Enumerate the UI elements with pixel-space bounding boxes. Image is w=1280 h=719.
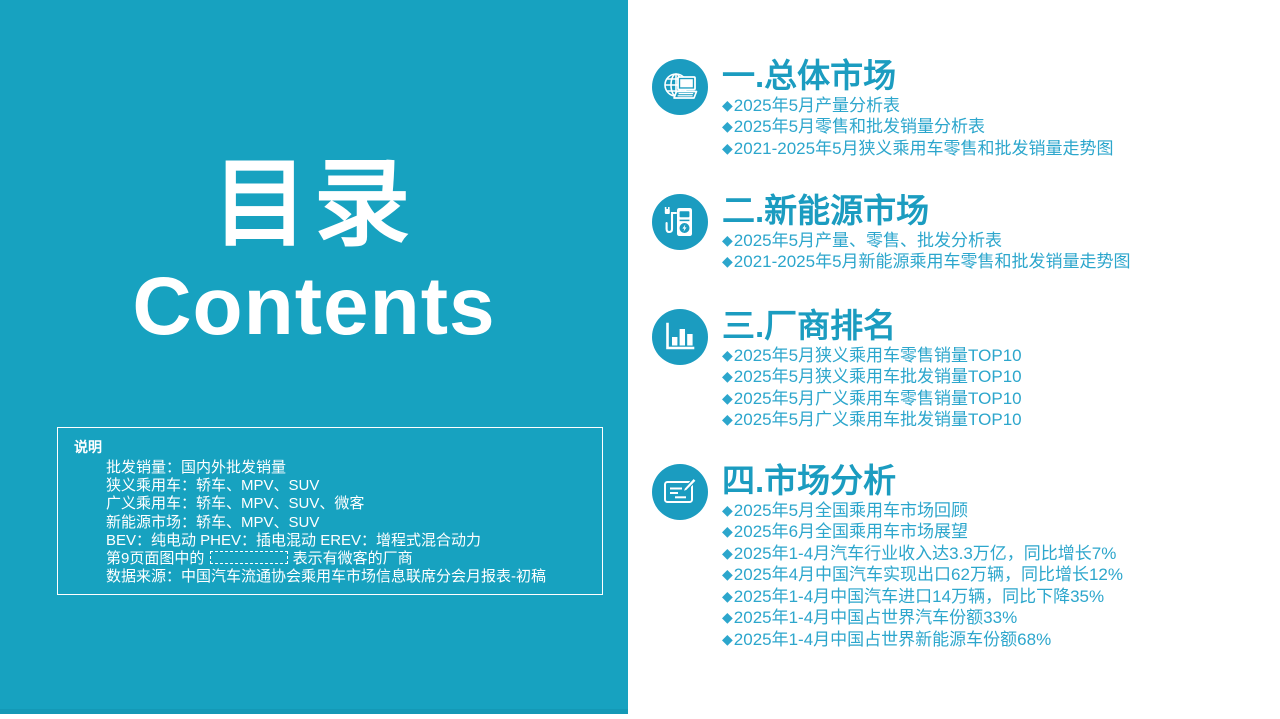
toc-item-label: 2025年5月广义乘用车批发销量TOP10 — [734, 410, 1022, 429]
toc-item-label: 2025年1-4月中国占世界新能源车份额68% — [734, 630, 1051, 649]
toc-item-label: 2025年1-4月中国汽车进口14万辆，同比下降35% — [734, 587, 1104, 606]
diamond-bullet-icon: ◆ — [722, 118, 733, 134]
diamond-bullet-icon: ◆ — [722, 253, 733, 269]
toc-item[interactable]: ◆2025年1-4月中国占世界汽车份额33% — [722, 607, 1123, 629]
section-title: 四.市场分析 — [722, 463, 1123, 499]
toc-item-label: 2025年5月全国乘用车市场回顾 — [734, 501, 968, 520]
page-title-english: Contents — [0, 262, 628, 352]
note-line-with-dashbox: 第9页面图中的 表示有微客的厂商 — [106, 550, 592, 568]
toc-section-new-energy-market[interactable]: 二.新能源市场 ◆2025年5月产量、零售、批发分析表 ◆2021-2025年5… — [652, 193, 1131, 273]
diamond-bullet-icon: ◆ — [722, 232, 733, 248]
dashbox-prefix-text: 第9页面图中的 — [106, 550, 209, 567]
toc-item[interactable]: ◆2025年4月中国汽车实现出口62万辆，同比增长12% — [722, 564, 1123, 586]
toc-item-label: 2025年4月中国汽车实现出口62万辆，同比增长12% — [734, 565, 1123, 584]
diamond-bullet-icon: ◆ — [722, 566, 733, 582]
section-item-list: ◆2025年5月全国乘用车市场回顾 ◆2025年6月全国乘用车市场展望 ◆202… — [722, 500, 1123, 651]
toc-item[interactable]: ◆2021-2025年5月狭义乘用车零售和批发销量走势图 — [722, 138, 1114, 160]
section-title: 一.总体市场 — [722, 58, 1114, 94]
toc-item-label: 2021-2025年5月新能源乘用车零售和批发销量走势图 — [734, 252, 1131, 271]
toc-item-label: 2025年5月产量、零售、批发分析表 — [734, 231, 1002, 250]
page-title-chinese: 目录 — [0, 155, 628, 256]
toc-item[interactable]: ◆2025年5月产量、零售、批发分析表 — [722, 230, 1131, 252]
toc-section-manufacturer-ranking[interactable]: 三.厂商排名 ◆2025年5月狭义乘用车零售销量TOP10 ◆2025年5月狭义… — [652, 308, 1022, 431]
section-item-list: ◆2025年5月狭义乘用车零售销量TOP10 ◆2025年5月狭义乘用车批发销量… — [722, 345, 1022, 431]
toc-item[interactable]: ◆2025年1-4月中国占世界新能源车份额68% — [722, 629, 1123, 651]
note-line-list: 批发销量：国内外批发销量 狭义乘用车：轿车、MPV、SUV 广义乘用车：轿车、M… — [70, 459, 592, 586]
toc-item-label: 2025年5月产量分析表 — [734, 96, 900, 115]
toc-item[interactable]: ◆2025年6月全国乘用车市场展望 — [722, 521, 1123, 543]
toc-item-label: 2025年5月狭义乘用车批发销量TOP10 — [734, 367, 1022, 386]
note-source-line: 数据来源：中国汽车流通协会乘用车市场信息联席分会月报表-初稿 — [106, 568, 592, 586]
document-pen-icon — [652, 464, 708, 520]
dashed-placeholder-box — [210, 551, 288, 564]
note-title: 说明 — [74, 437, 592, 458]
section-title: 三.厂商排名 — [722, 308, 1022, 344]
toc-item[interactable]: ◆2025年5月狭义乘用车批发销量TOP10 — [722, 366, 1022, 388]
note-line: BEV：纯电动 PHEV：插电混动 EREV：增程式混合动力 — [106, 532, 592, 550]
diamond-bullet-icon: ◆ — [722, 347, 733, 363]
toc-item[interactable]: ◆2025年5月广义乘用车零售销量TOP10 — [722, 388, 1022, 410]
toc-item[interactable]: ◆2025年5月全国乘用车市场回顾 — [722, 500, 1123, 522]
diamond-bullet-icon: ◆ — [722, 631, 733, 647]
toc-item[interactable]: ◆2025年1-4月中国汽车进口14万辆，同比下降35% — [722, 586, 1123, 608]
dashbox-suffix-text: 表示有微客的厂商 — [289, 550, 413, 567]
bar-chart-icon — [652, 309, 708, 365]
globe-laptop-icon — [652, 59, 708, 115]
diamond-bullet-icon: ◆ — [722, 545, 733, 561]
toc-item-label: 2025年5月狭义乘用车零售销量TOP10 — [734, 346, 1022, 365]
note-line: 批发销量：国内外批发销量 — [106, 459, 592, 477]
toc-item[interactable]: ◆2025年1-4月汽车行业收入达3.3万亿，同比增长7% — [722, 543, 1123, 565]
note-line: 狭义乘用车：轿车、MPV、SUV — [106, 477, 592, 495]
toc-item[interactable]: ◆2025年5月狭义乘用车零售销量TOP10 — [722, 345, 1022, 367]
toc-section-overall-market[interactable]: 一.总体市场 ◆2025年5月产量分析表 ◆2025年5月零售和批发销量分析表 … — [652, 58, 1114, 159]
toc-section-market-analysis[interactable]: 四.市场分析 ◆2025年5月全国乘用车市场回顾 ◆2025年6月全国乘用车市场… — [652, 463, 1123, 650]
toc-item[interactable]: ◆2025年5月产量分析表 — [722, 95, 1114, 117]
note-line: 新能源市场：轿车、MPV、SUV — [106, 514, 592, 532]
toc-item[interactable]: ◆2025年5月广义乘用车批发销量TOP10 — [722, 409, 1022, 431]
diamond-bullet-icon: ◆ — [722, 368, 733, 384]
toc-item-label: 2025年1-4月中国占世界汽车份额33% — [734, 608, 1017, 627]
diamond-bullet-icon: ◆ — [722, 609, 733, 625]
ev-charging-station-icon — [652, 194, 708, 250]
legend-note-box: 说明 批发销量：国内外批发销量 狭义乘用车：轿车、MPV、SUV 广义乘用车：轿… — [57, 427, 603, 595]
note-line: 广义乘用车：轿车、MPV、SUV、微客 — [106, 495, 592, 513]
toc-item[interactable]: ◆2025年5月零售和批发销量分析表 — [722, 116, 1114, 138]
section-title: 二.新能源市场 — [722, 193, 1131, 229]
toc-item-label: 2025年6月全国乘用车市场展望 — [734, 522, 968, 541]
diamond-bullet-icon: ◆ — [722, 523, 733, 539]
section-item-list: ◆2025年5月产量、零售、批发分析表 ◆2021-2025年5月新能源乘用车零… — [722, 230, 1131, 273]
toc-item-label: 2025年5月广义乘用车零售销量TOP10 — [734, 389, 1022, 408]
diamond-bullet-icon: ◆ — [722, 411, 733, 427]
title-block: 目录 Contents — [0, 155, 628, 352]
toc-item-label: 2025年5月零售和批发销量分析表 — [734, 117, 985, 136]
left-panel-bottom-strip — [0, 709, 628, 714]
toc-item-label: 2025年1-4月汽车行业收入达3.3万亿，同比增长7% — [734, 544, 1117, 563]
diamond-bullet-icon: ◆ — [722, 390, 733, 406]
diamond-bullet-icon: ◆ — [722, 140, 733, 156]
toc-item[interactable]: ◆2021-2025年5月新能源乘用车零售和批发销量走势图 — [722, 251, 1131, 273]
diamond-bullet-icon: ◆ — [722, 97, 733, 113]
left-title-panel — [0, 0, 628, 714]
diamond-bullet-icon: ◆ — [722, 502, 733, 518]
toc-panel: 一.总体市场 ◆2025年5月产量分析表 ◆2025年5月零售和批发销量分析表 … — [628, 0, 1280, 719]
diamond-bullet-icon: ◆ — [722, 588, 733, 604]
section-item-list: ◆2025年5月产量分析表 ◆2025年5月零售和批发销量分析表 ◆2021-2… — [722, 95, 1114, 160]
toc-item-label: 2021-2025年5月狭义乘用车零售和批发销量走势图 — [734, 139, 1114, 158]
slide-root: 目录 Contents 说明 批发销量：国内外批发销量 狭义乘用车：轿车、MPV… — [0, 0, 1280, 719]
